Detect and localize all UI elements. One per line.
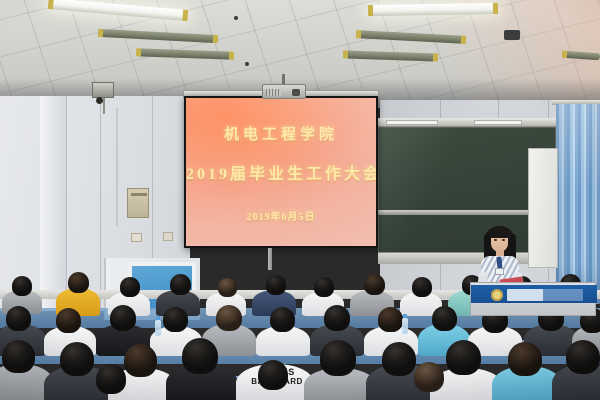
water-bottle bbox=[155, 320, 161, 336]
slide-subtitle: 2019届毕业生工作大会 bbox=[186, 160, 376, 184]
audience-head bbox=[378, 307, 403, 332]
audience-head bbox=[382, 342, 416, 376]
side-whiteboard bbox=[528, 148, 558, 268]
audience-head bbox=[364, 274, 385, 295]
podium bbox=[470, 282, 596, 316]
audience-head bbox=[110, 305, 136, 331]
slide-title: 机电工程学院 bbox=[186, 123, 376, 144]
security-camera-icon bbox=[92, 82, 114, 98]
projector-vent-icon bbox=[266, 89, 281, 96]
audience-head bbox=[68, 272, 89, 293]
camera-lens-icon bbox=[96, 97, 103, 104]
speaker-eye-left bbox=[494, 239, 497, 241]
audience-head bbox=[218, 278, 237, 297]
ceiling-light-4 bbox=[368, 3, 498, 16]
audience-head bbox=[163, 307, 188, 332]
water-bottle bbox=[402, 318, 408, 334]
audience-head bbox=[2, 340, 35, 373]
audience-head bbox=[6, 306, 31, 331]
podium-banner-text bbox=[507, 289, 583, 301]
audience-head bbox=[320, 340, 356, 376]
audience-head bbox=[266, 275, 286, 295]
ceiling-speaker-mount bbox=[504, 30, 520, 40]
slide-date: 2019年6月5日 bbox=[186, 208, 376, 223]
audience-head bbox=[12, 276, 32, 296]
audience-head bbox=[432, 306, 457, 331]
electrical-panel[interactable] bbox=[127, 188, 149, 218]
projection-screen: 机电工程学院 2019届毕业生工作大会 2019年6月5日 bbox=[184, 96, 378, 248]
audience-head bbox=[508, 342, 542, 376]
audience-head bbox=[446, 340, 481, 375]
speaker-eye-right bbox=[502, 239, 505, 241]
audience-head bbox=[314, 277, 334, 297]
light-switch[interactable] bbox=[131, 233, 142, 242]
audience-head bbox=[414, 362, 444, 392]
audience-head bbox=[56, 308, 81, 333]
university-crest-icon bbox=[491, 289, 503, 301]
audience-head bbox=[412, 277, 432, 297]
audience-head bbox=[96, 364, 126, 394]
audience-head bbox=[170, 274, 191, 295]
audience-head bbox=[566, 340, 600, 374]
wall-conduit bbox=[116, 108, 118, 226]
audience-head bbox=[124, 344, 157, 377]
screen-support-pole bbox=[268, 248, 272, 270]
blackboard-top-rail bbox=[378, 118, 556, 127]
audience-head bbox=[324, 305, 350, 331]
lecture-hall-photo: 机电工程学院 2019届毕业生工作大会 2019年6月5日 bbox=[0, 0, 600, 400]
speaker-badge bbox=[495, 268, 504, 275]
audience-head bbox=[60, 342, 94, 376]
camera-cable bbox=[103, 98, 105, 114]
audience-head bbox=[270, 307, 295, 332]
audience-head bbox=[216, 305, 242, 331]
wall-outlet[interactable] bbox=[163, 232, 173, 241]
ceiling-mount-bracket bbox=[234, 16, 238, 20]
audience-head bbox=[258, 360, 288, 390]
ceiling-mount-bracket-2 bbox=[245, 62, 249, 66]
audience-head bbox=[182, 338, 218, 374]
projector-lens-icon bbox=[292, 89, 300, 96]
audience-head bbox=[120, 277, 140, 297]
speaker-fringe bbox=[489, 228, 510, 238]
ceiling-projector bbox=[262, 84, 306, 99]
slide-surface: 机电工程学院 2019届毕业生工作大会 2019年6月5日 bbox=[186, 98, 376, 246]
podium-banner bbox=[471, 285, 597, 303]
